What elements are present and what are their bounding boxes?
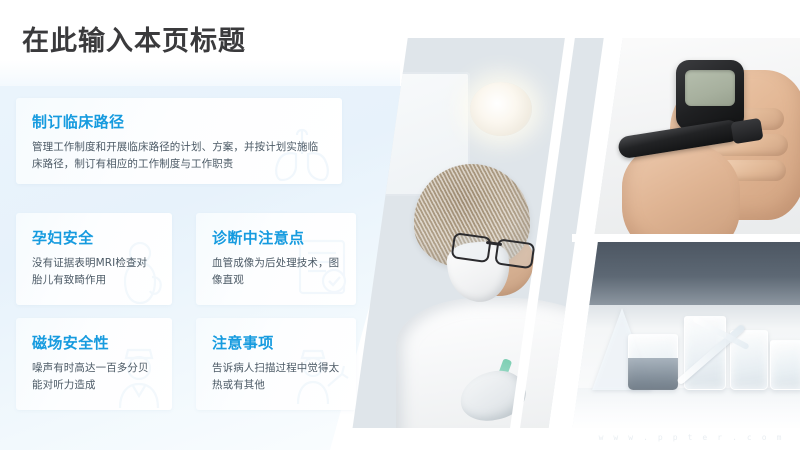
logo-brand-text: PPT <box>720 8 759 24</box>
laboratory-glassware-beakers-photo <box>572 241 800 432</box>
collage-vertical-seam <box>508 30 576 440</box>
card-body: 孕妇安全 没有证据表明MRI检查对胎儿有致畸作用 <box>16 213 172 301</box>
card-text: 噪声有时高达一百多分贝能对听力造成 <box>32 360 156 394</box>
card-title: 磁场安全性 <box>32 332 156 353</box>
shield-icon: P <box>695 9 715 32</box>
logo-text-block: PPT 最设案 医学PPT素材大全 <box>720 8 792 32</box>
card-title: 注意事项 <box>212 332 340 353</box>
logo-primary-row: PPT 最设案 <box>720 8 792 24</box>
footer-watermark: w w w . p p t e r . c o m <box>599 433 784 442</box>
blood-glucose-meter-finger-test-photo <box>594 36 800 238</box>
card-text: 管理工作制度和开展临床路径的计划、方案，并按计划实施临床路径，制订有相应的工作制… <box>32 139 326 174</box>
info-card-magnetic-field-safety[interactable]: 磁场安全性 噪声有时高达一百多分贝能对听力造成 <box>16 318 172 410</box>
card-body: 磁场安全性 噪声有时高达一百多分贝能对听力造成 <box>16 318 172 406</box>
info-card-pregnancy-safety[interactable]: 孕妇安全 没有证据表明MRI检查对胎儿有致畸作用 <box>16 213 172 305</box>
brand-logo: P PPT 最设案 医学PPT素材大全 <box>695 6 792 34</box>
card-body: 注意事项 告诉病人扫描过程中觉得太热或有其他 <box>196 318 356 406</box>
svg-text:P: P <box>702 15 708 24</box>
logo-badge: 最设案 <box>761 11 793 22</box>
collage-horizontal-seam <box>572 234 800 242</box>
page-title: 在此输入本页标题 <box>22 19 246 58</box>
card-text: 没有证据表明MRI检查对胎儿有致畸作用 <box>32 255 156 289</box>
card-text: 血管成像为后处理技术，图像直观 <box>212 255 340 289</box>
card-body: 诊断中注意点 血管成像为后处理技术，图像直观 <box>196 213 356 301</box>
card-text: 告诉病人扫描过程中觉得太热或有其他 <box>212 360 340 394</box>
card-title: 制订临床路径 <box>32 111 326 132</box>
slide-root: 在此输入本页标题 P PPT 最设案 医学PPT素材大全 <box>0 0 800 450</box>
info-card-clinical-pathway[interactable]: 制订临床路径 管理工作制度和开展临床路径的计划、方案，并按计划实施临床路径，制订… <box>16 98 342 184</box>
info-card-diagnosis-notes[interactable]: 诊断中注意点 血管成像为后处理技术，图像直观 <box>196 213 356 305</box>
card-title: 诊断中注意点 <box>212 227 340 248</box>
card-body: 制订临床路径 管理工作制度和开展临床路径的计划、方案，并按计划实施临床路径，制订… <box>16 98 342 184</box>
info-card-precautions[interactable]: 注意事项 告诉病人扫描过程中觉得太热或有其他 <box>196 318 356 410</box>
card-title: 孕妇安全 <box>32 227 156 248</box>
logo-tagline: 医学PPT素材大全 <box>720 25 792 32</box>
